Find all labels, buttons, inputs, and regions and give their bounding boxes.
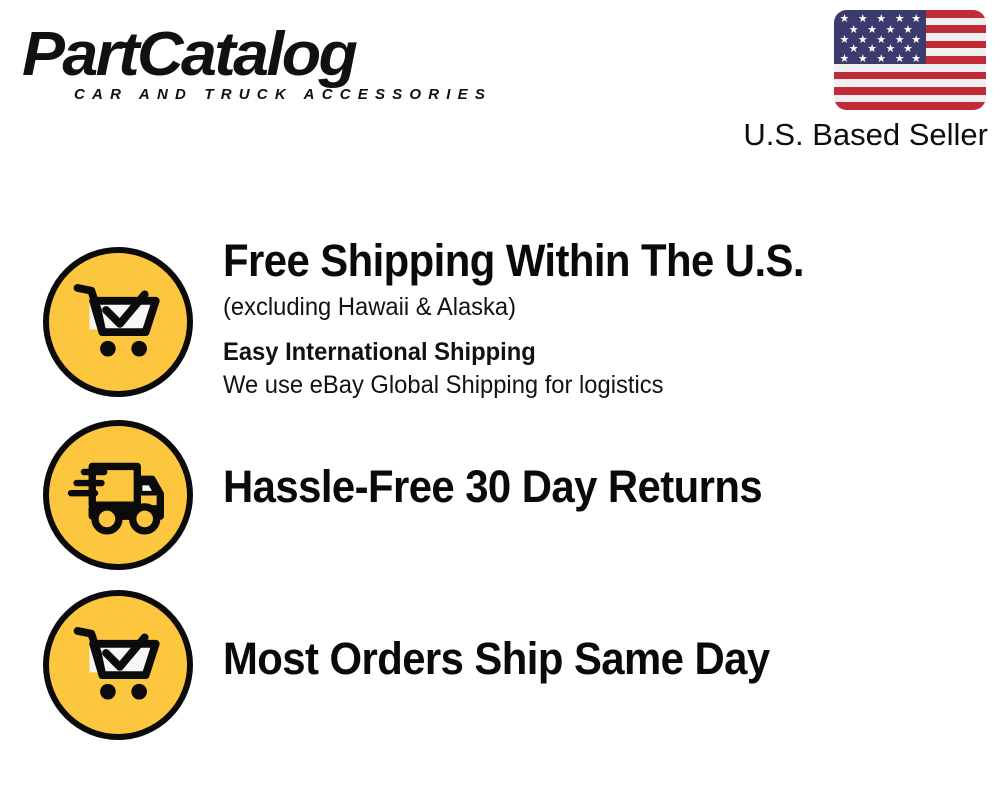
- us-based-seller-label: U.S. Based Seller: [718, 117, 988, 153]
- delivery-truck-icon: [43, 420, 193, 570]
- promo-banner: PartCatalog CAR AND TRUCK ACCESSORIES ★ …: [0, 0, 1000, 800]
- feature-title: Most Orders Ship Same Day: [223, 634, 927, 684]
- shopping-cart-check-icon: [43, 590, 193, 740]
- feature-text-block: Most Orders Ship Same Day: [223, 634, 980, 684]
- feature-title: Hassle-Free 30 Day Returns: [223, 462, 927, 512]
- feature-row: Hassle-Free 30 Day Returns: [0, 418, 1000, 578]
- feature-subtext-international: Easy International Shipping: [223, 337, 942, 368]
- feature-title: Free Shipping Within The U.S.: [223, 236, 927, 286]
- shopping-cart-check-icon: [43, 247, 193, 397]
- brand-wordmark: PartCatalog: [22, 20, 511, 90]
- feature-subtext-exclusions: (excluding Hawaii & Alaska): [223, 292, 942, 323]
- feature-subtext-logistics: We use eBay Global Shipping for logistic…: [223, 370, 942, 401]
- feature-text-block: Free Shipping Within The U.S. (excluding…: [223, 236, 980, 401]
- feature-text-block: Hassle-Free 30 Day Returns: [223, 462, 980, 512]
- us-flag-icon: ★ ★ ★ ★ ★ ★ ★ ★ ★ ★ ★ ★ ★ ★ ★ ★ ★ ★ ★ ★: [834, 10, 986, 110]
- feature-row: Free Shipping Within The U.S. (excluding…: [0, 230, 1000, 420]
- brand-logo: PartCatalog CAR AND TRUCK ACCESSORIES: [22, 20, 492, 115]
- feature-row: Most Orders Ship Same Day: [0, 588, 1000, 748]
- flag-canton: ★ ★ ★ ★ ★ ★ ★ ★ ★ ★ ★ ★ ★ ★ ★ ★ ★ ★ ★ ★: [834, 10, 926, 64]
- us-based-seller-block: ★ ★ ★ ★ ★ ★ ★ ★ ★ ★ ★ ★ ★ ★ ★ ★ ★ ★ ★ ★: [718, 10, 988, 153]
